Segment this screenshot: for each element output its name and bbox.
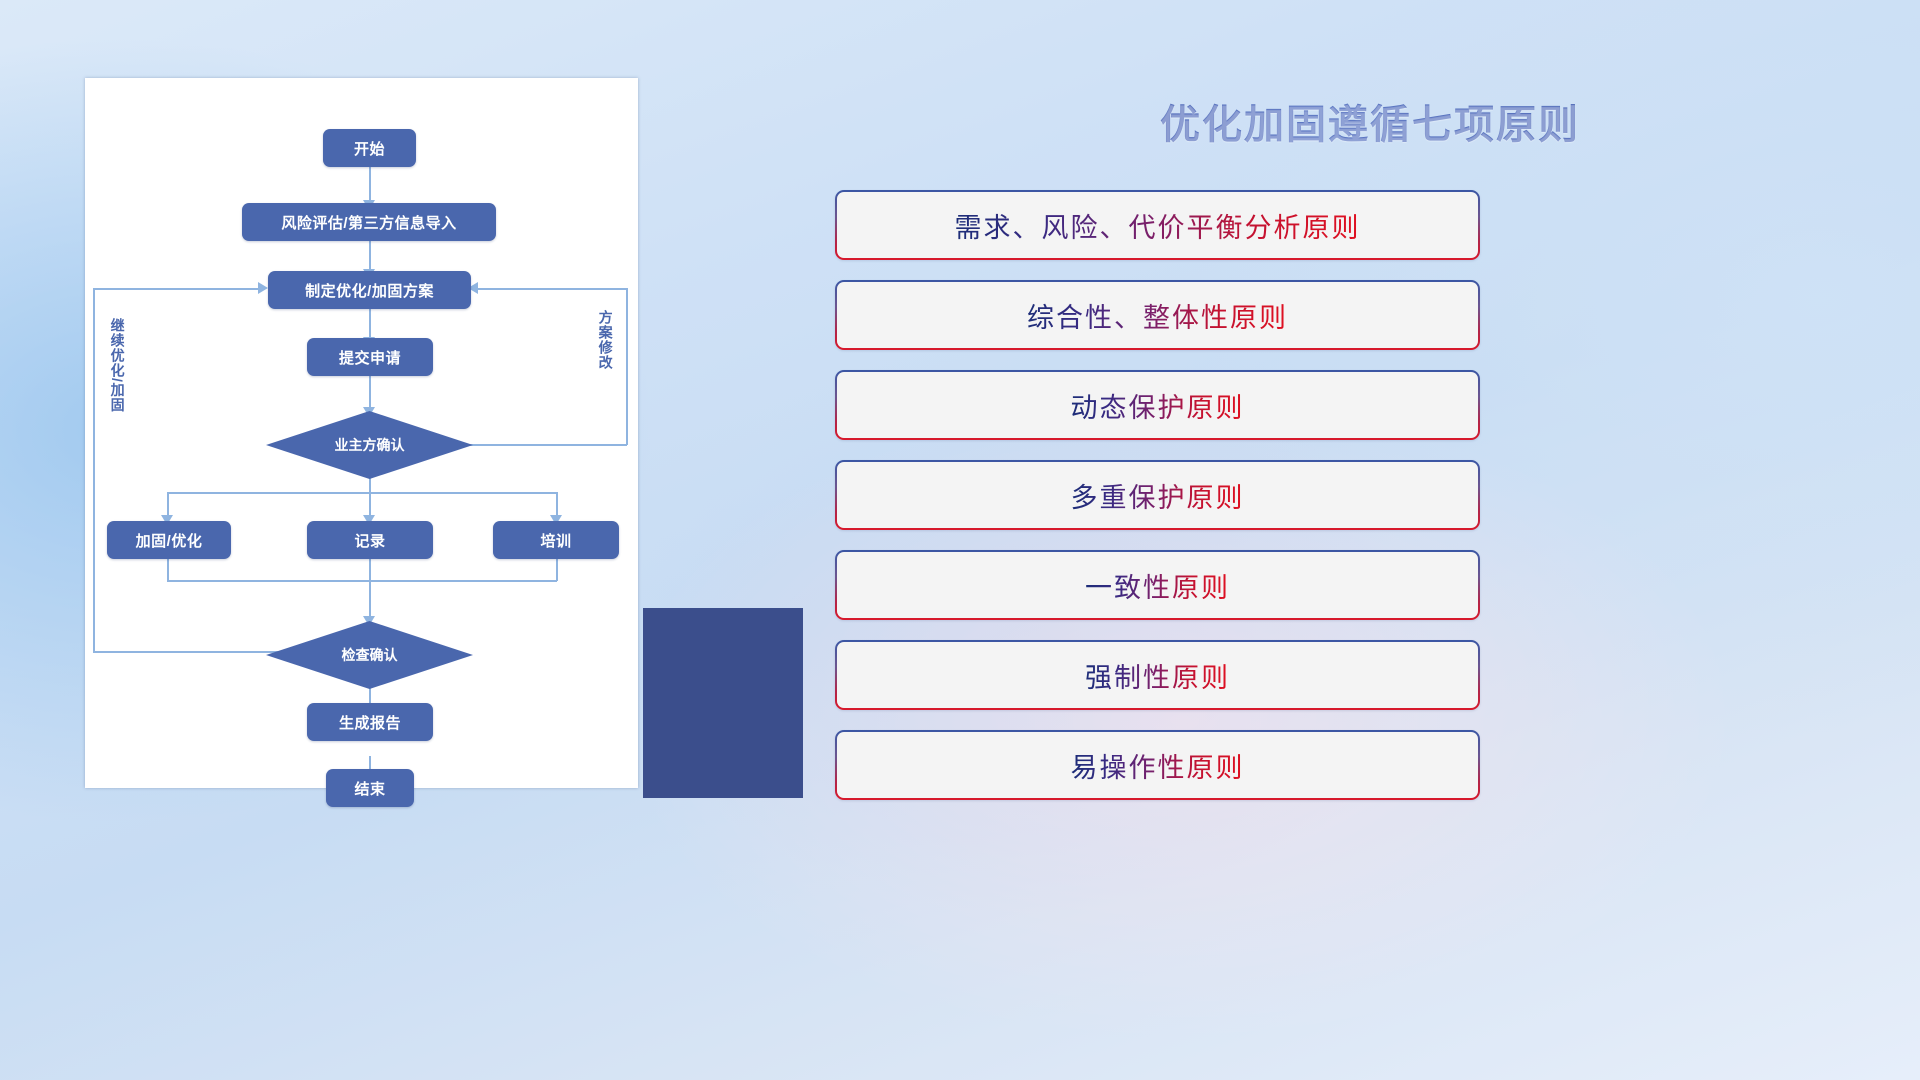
flow-node-report-label: 生成报告 — [339, 712, 401, 733]
principle-label: 动态保护原则 — [1071, 386, 1245, 425]
flow-node-training[interactable]: 培训 — [493, 521, 619, 559]
principle-item-1[interactable]: 需求、风险、代价平衡分析原则 — [835, 190, 1480, 260]
flow-node-reinforce[interactable]: 加固/优化 — [107, 521, 231, 559]
flow-node-record[interactable]: 记录 — [307, 521, 433, 559]
principle-face: 动态保护原则 — [837, 372, 1478, 438]
connector-owner-down — [369, 478, 371, 516]
principle-face: 多重保护原则 — [837, 462, 1478, 528]
principle-face: 一致性原则 — [837, 552, 1478, 618]
principle-item-4[interactable]: 多重保护原则 — [835, 460, 1480, 530]
flow-node-submit-label: 提交申请 — [339, 347, 401, 368]
flow-node-end-label: 结束 — [354, 778, 385, 799]
principle-label: 一致性原则 — [1085, 566, 1230, 605]
principle-label: 易操作性原则 — [1071, 746, 1245, 785]
flow-node-submit[interactable]: 提交申请 — [307, 338, 433, 376]
page-title: 优化加固遵循七项原则 — [820, 92, 1920, 150]
flow-node-plan-label: 制定优化/加固方案 — [305, 280, 434, 301]
connector-loop-left-top — [93, 288, 260, 290]
flow-node-end[interactable]: 结束 — [326, 769, 414, 807]
principle-label: 多重保护原则 — [1071, 476, 1245, 515]
arrowhead-plan-from-left — [258, 282, 268, 294]
flow-node-report[interactable]: 生成报告 — [307, 703, 433, 741]
flow-node-check-confirm[interactable]: 检查确认 — [266, 621, 473, 689]
principle-face: 需求、风险、代价平衡分析原则 — [837, 192, 1478, 258]
principle-item-3[interactable]: 动态保护原则 — [835, 370, 1480, 440]
principle-item-7[interactable]: 易操作性原则 — [835, 730, 1480, 800]
flowchart-card: 继续优化/加固 方案修改 — [85, 78, 638, 788]
connector-loop-left-vertical — [93, 288, 95, 652]
principle-item-6[interactable]: 强制性原则 — [835, 640, 1480, 710]
connector-merge-bus — [167, 580, 557, 582]
flowchart-right-loop-label: 方案修改 — [597, 310, 613, 370]
flow-node-training-label: 培训 — [540, 530, 571, 551]
principle-label: 需求、风险、代价平衡分析原则 — [955, 206, 1361, 245]
principle-item-2[interactable]: 综合性、整体性原则 — [835, 280, 1480, 350]
connector-loop-right-vertical — [626, 288, 628, 445]
connector-loop-right-top — [478, 288, 627, 290]
flow-node-plan[interactable]: 制定优化/加固方案 — [268, 271, 471, 309]
connector-branch-bus — [167, 492, 557, 494]
principle-face: 综合性、整体性原则 — [837, 282, 1478, 348]
principle-label: 综合性、整体性原则 — [1027, 296, 1288, 335]
connector-reinforce-down — [167, 559, 169, 581]
principle-label: 强制性原则 — [1085, 656, 1230, 695]
flow-node-record-label: 记录 — [354, 530, 385, 551]
principles-list: 需求、风险、代价平衡分析原则 综合性、整体性原则 动态保护原则 多重保护原则 一… — [835, 190, 1495, 820]
flowchart-shadow-block — [643, 608, 803, 798]
flow-node-risk-assessment-label: 风险评估/第三方信息导入 — [281, 212, 456, 233]
connector-record-to-check — [369, 559, 371, 621]
principle-face: 易操作性原则 — [837, 732, 1478, 798]
principle-item-5[interactable]: 一致性原则 — [835, 550, 1480, 620]
flow-node-start[interactable]: 开始 — [323, 129, 416, 167]
flow-node-reinforce-label: 加固/优化 — [136, 530, 203, 551]
flow-node-check-confirm-label: 检查确认 — [342, 645, 398, 665]
flow-node-owner-confirm-label: 业主方确认 — [335, 435, 405, 455]
flow-node-start-label: 开始 — [354, 138, 385, 159]
principles-panel: 优化加固遵循七项原则 需求、风险、代价平衡分析原则 综合性、整体性原则 动态保护… — [820, 0, 1920, 1080]
flow-node-owner-confirm[interactable]: 业主方确认 — [266, 411, 473, 479]
connector-training-down — [556, 559, 558, 581]
flowchart-canvas: 继续优化/加固 方案修改 — [85, 78, 638, 788]
flowchart-left-loop-label: 继续优化/加固 — [109, 318, 125, 413]
flow-node-risk-assessment[interactable]: 风险评估/第三方信息导入 — [242, 203, 496, 241]
principle-face: 强制性原则 — [837, 642, 1478, 708]
